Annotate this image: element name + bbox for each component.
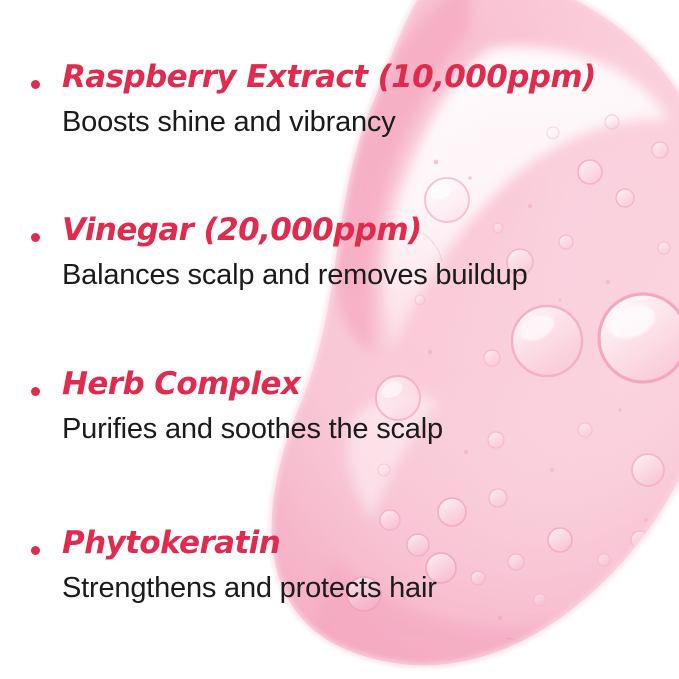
list-item: Vinegar (20,000ppm) Balances scalp and r… <box>0 211 679 294</box>
ingredient-name: Phytokeratin <box>62 524 679 563</box>
ingredient-description: Strengthens and protects hair <box>62 570 679 608</box>
spacer <box>0 482 679 524</box>
bullet-dot-icon <box>31 546 40 555</box>
ingredient-name: Herb Complex <box>62 365 679 404</box>
ingredient-benefits-panel: Raspberry Extract (10,000ppm) Boosts shi… <box>0 0 679 679</box>
list-item: Raspberry Extract (10,000ppm) Boosts shi… <box>0 58 679 141</box>
list-item: Phytokeratin Strengthens and protects ha… <box>0 524 679 607</box>
ingredient-description: Boosts shine and vibrancy <box>62 104 679 142</box>
ingredient-name: Vinegar (20,000ppm) <box>62 211 679 250</box>
ingredient-list: Raspberry Extract (10,000ppm) Boosts shi… <box>0 0 679 679</box>
bullet-dot-icon <box>31 387 40 396</box>
spacer <box>0 175 679 211</box>
bullet-dot-icon <box>31 233 40 242</box>
ingredient-description: Purifies and soothes the scalp <box>62 411 679 449</box>
spacer <box>0 329 679 365</box>
ingredient-description: Balances scalp and removes buildup <box>62 257 679 295</box>
list-item: Herb Complex Purifies and soothes the sc… <box>0 365 679 448</box>
bullet-dot-icon <box>31 80 40 89</box>
ingredient-name: Raspberry Extract (10,000ppm) <box>62 58 679 97</box>
